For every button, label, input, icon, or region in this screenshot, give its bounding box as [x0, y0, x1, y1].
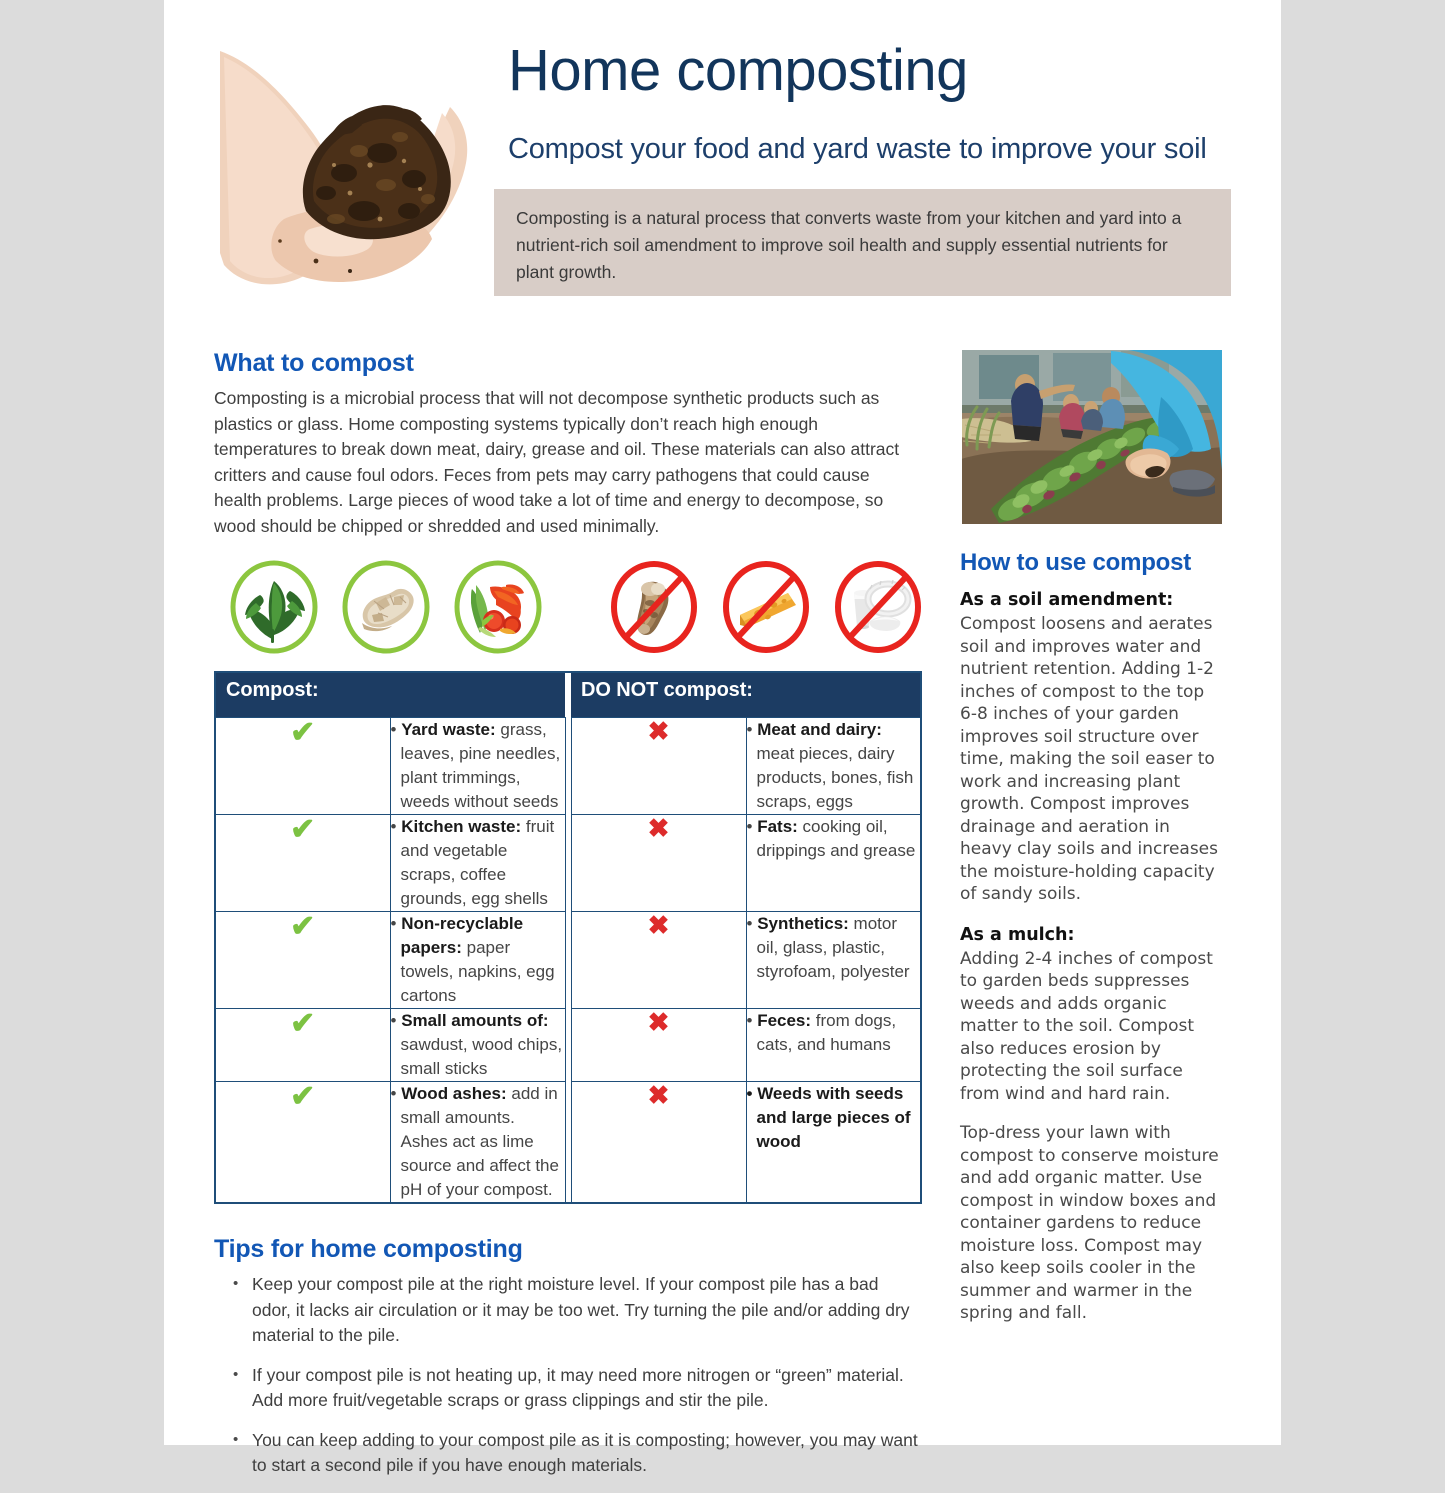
- table-row: ✔ • Kitchen waste: fruit and vegetable s…: [215, 815, 921, 912]
- sidebar-block-text: Top-dress your lawn with compost to cons…: [960, 1122, 1224, 1325]
- table-row: ✔ • Small amounts of: sawdust, wood chip…: [215, 1009, 921, 1082]
- do-not-compost-item-label: Feces:: [757, 1011, 811, 1030]
- page-title: Home composting: [508, 36, 968, 106]
- compost-item: • Non-recyclable papers: paper towels, n…: [391, 912, 565, 1008]
- check-icon: ✔: [290, 716, 315, 749]
- vegetable-scraps-icon: [450, 559, 546, 655]
- do-not-compost-item-label: Synthetics:: [757, 914, 849, 933]
- compost-item-label: Kitchen waste:: [401, 817, 521, 836]
- leaves-icon: [226, 559, 322, 655]
- compost-icon-strip: [214, 559, 922, 657]
- check-cell: ✔: [215, 912, 390, 1009]
- table-row: ✔ • Wood ashes: add in small amounts. As…: [215, 1082, 921, 1204]
- ex-cell: ✖: [571, 1009, 746, 1082]
- compost-item-cell: • Non-recyclable papers: paper towels, n…: [390, 912, 565, 1009]
- sidebar-block: Top-dress your lawn with compost to cons…: [960, 1122, 1224, 1325]
- sidebar-block: As a mulch: Adding 2-4 inches of compost…: [960, 923, 1224, 1106]
- compost-item-label: Wood ashes:: [401, 1084, 506, 1103]
- x-icon: ✖: [648, 716, 670, 746]
- do-not-compost-item-label: Weeds with seeds and large pieces of woo…: [757, 1084, 911, 1151]
- table-row: ✔ • Non-recyclable papers: paper towels,…: [215, 912, 921, 1009]
- compost-table: Compost: DO NOT compost: ✔ • Yard waste:…: [214, 671, 922, 1204]
- ex-cell: ✖: [571, 815, 746, 912]
- do-not-compost-item-detail: meat pieces, dairy products, bones, fish…: [757, 744, 914, 811]
- compost-item: • Kitchen waste: fruit and vegetable scr…: [391, 815, 565, 911]
- check-icon: ✔: [290, 1007, 315, 1040]
- check-cell: ✔: [215, 718, 390, 815]
- sidebar-block: As a soil amendment: Compost loosens and…: [960, 588, 1224, 906]
- do-not-compost-item: • Feces: from dogs, cats, and humans: [747, 1009, 921, 1057]
- do-not-compost-item-cell: • Weeds with seeds and large pieces of w…: [746, 1082, 921, 1204]
- ex-cell: ✖: [571, 718, 746, 815]
- table-header-row: Compost: DO NOT compost:: [215, 672, 921, 718]
- page-subtitle: Compost your food and yard waste to impr…: [508, 131, 1207, 167]
- sidebar-block-label: As a soil amendment:: [960, 588, 1224, 613]
- check-cell: ✔: [215, 1009, 390, 1082]
- table-row: ✔ • Yard waste: grass, leaves, pine need…: [215, 718, 921, 815]
- compost-item-detail: sawdust, wood chips, small sticks: [401, 1035, 563, 1078]
- compost-item: • Yard waste: grass, leaves, pine needle…: [391, 718, 565, 814]
- compost-item-cell: • Small amounts of: sawdust, wood chips,…: [390, 1009, 565, 1082]
- do-not-compost-item-cell: • Meat and dairy: meat pieces, dairy pro…: [746, 718, 921, 815]
- do-not-compost-item: • Synthetics: motor oil, glass, plastic,…: [747, 912, 921, 984]
- ex-cell: ✖: [571, 912, 746, 1009]
- sidebar-block-text: Adding 2-4 inches of compost to garden b…: [960, 948, 1224, 1106]
- x-icon: ✖: [648, 1007, 670, 1037]
- check-cell: ✔: [215, 815, 390, 912]
- compost-item-cell: • Yard waste: grass, leaves, pine needle…: [390, 718, 565, 815]
- do-not-compost-item-label: Fats:: [757, 817, 798, 836]
- intro-callout-box: Composting is a natural process that con…: [494, 189, 1231, 296]
- list-item: You can keep adding to your compost pile…: [214, 1428, 922, 1479]
- community-garden-planting-photo: [960, 348, 1224, 526]
- compost-item-label: Small amounts of:: [401, 1011, 548, 1030]
- do-not-compost-item: • Weeds with seeds and large pieces of w…: [747, 1082, 921, 1154]
- do-not-compost-item-cell: • Feces: from dogs, cats, and humans: [746, 1009, 921, 1082]
- check-icon: ✔: [290, 910, 315, 943]
- styrofoam-icon: [830, 559, 926, 655]
- intro-text: Composting is a natural process that con…: [516, 205, 1208, 286]
- compost-item-cell: • Wood ashes: add in small amounts. Ashe…: [390, 1082, 565, 1204]
- left-column: What to compost Composting is a microbia…: [214, 348, 922, 1493]
- list-item: If your compost pile is not heating up, …: [214, 1363, 922, 1414]
- tips-list: Keep your compost pile at the right mois…: [214, 1272, 922, 1479]
- what-to-compost-heading: What to compost: [214, 348, 922, 379]
- do-not-compost-item-cell: • Fats: cooking oil, drippings and greas…: [746, 815, 921, 912]
- sidebar-block-label: As a mulch:: [960, 923, 1224, 948]
- compost-item-cell: • Kitchen waste: fruit and vegetable scr…: [390, 815, 565, 912]
- list-item: Keep your compost pile at the right mois…: [214, 1272, 922, 1349]
- do-not-compost-item-cell: • Synthetics: motor oil, glass, plastic,…: [746, 912, 921, 1009]
- check-cell: ✔: [215, 1082, 390, 1204]
- check-icon: ✔: [290, 813, 315, 846]
- hands-holding-compost-soil-photo: [214, 33, 480, 295]
- paper-icon: [338, 559, 434, 655]
- compost-item: • Small amounts of: sawdust, wood chips,…: [391, 1009, 565, 1081]
- check-icon: ✔: [290, 1080, 315, 1113]
- compost-table-body: ✔ • Yard waste: grass, leaves, pine need…: [215, 718, 921, 1204]
- sidebar-block-text: Compost loosens and aerates soil and imp…: [960, 613, 1224, 906]
- document-page: Home composting Compost your food and ya…: [164, 0, 1281, 1445]
- document-header: Home composting Compost your food and ya…: [164, 0, 1281, 310]
- how-to-use-compost-heading: How to use compost: [960, 548, 1224, 578]
- do-not-compost-item: • Meat and dairy: meat pieces, dairy pro…: [747, 718, 921, 814]
- x-icon: ✖: [648, 1080, 670, 1110]
- what-to-compost-paragraph: Composting is a microbial process that w…: [214, 386, 922, 539]
- do-not-compost-item: • Fats: cooking oil, drippings and greas…: [747, 815, 921, 863]
- ex-cell: ✖: [571, 1082, 746, 1204]
- x-icon: ✖: [648, 813, 670, 843]
- table-header-do-not-compost: DO NOT compost:: [571, 672, 921, 718]
- do-not-compost-item-label: Meat and dairy:: [757, 720, 882, 739]
- x-icon: ✖: [648, 910, 670, 940]
- compost-item-label: Yard waste:: [401, 720, 496, 739]
- table-header-compost: Compost:: [215, 672, 565, 718]
- cheese-icon: [718, 559, 814, 655]
- meat-bone-icon: [606, 559, 702, 655]
- right-sidebar: How to use compost As a soil amendment: …: [960, 348, 1224, 1342]
- tips-heading: Tips for home composting: [214, 1234, 922, 1265]
- compost-item: • Wood ashes: add in small amounts. Ashe…: [391, 1082, 565, 1202]
- tips-section: Tips for home composting Keep your compo…: [214, 1234, 922, 1479]
